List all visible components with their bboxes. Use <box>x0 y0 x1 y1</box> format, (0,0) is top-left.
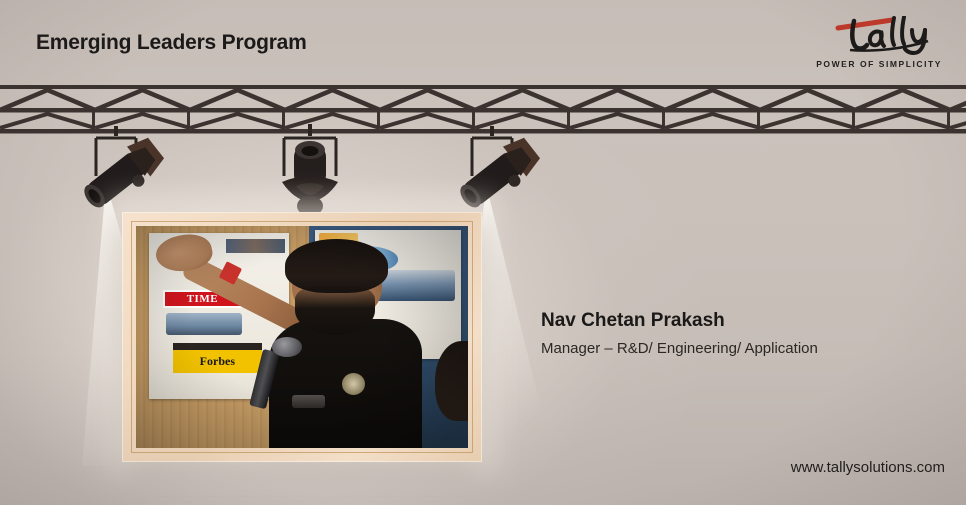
tally-wordmark-icon <box>832 16 944 56</box>
presentation-slide: Emerging Leaders Program POWER OF SIM <box>0 0 966 505</box>
speaker-role: Manager – R&D/ Engineering/ Application <box>541 340 818 357</box>
page-title: Emerging Leaders Program <box>36 31 307 55</box>
website-url[interactable]: www.tallysolutions.com <box>791 459 945 476</box>
speaker-photo <box>136 226 468 448</box>
tally-logo: POWER OF SIMPLICITY <box>794 16 944 69</box>
tally-tagline: POWER OF SIMPLICITY <box>794 59 944 69</box>
speaker-name: Nav Chetan Prakash <box>541 310 725 332</box>
photo-frame[interactable] <box>122 212 482 462</box>
photo-vignette <box>136 226 468 448</box>
